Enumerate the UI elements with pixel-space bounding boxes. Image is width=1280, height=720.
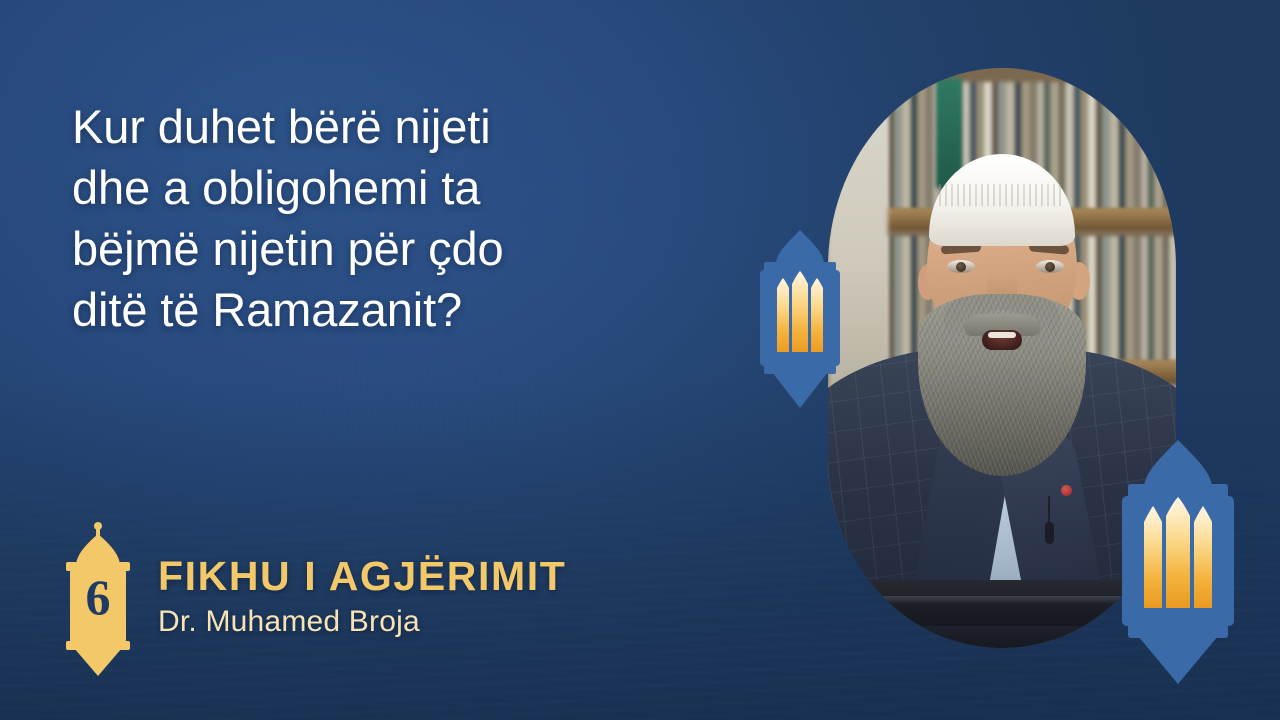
photo-eye-right <box>1036 260 1064 273</box>
video-thumbnail-slide: Kur duhet bërë nijeti dhe a obligohemi t… <box>0 0 1280 720</box>
episode-number-badge: 6 <box>60 520 136 678</box>
headline-line: bëjmë nijetin për çdo <box>72 218 712 279</box>
photo-mouth <box>982 330 1022 350</box>
episode-number: 6 <box>60 572 136 622</box>
ramadan-lantern-icon <box>752 228 848 410</box>
series-footer: 6 FIKHU I AGJËRIMIT Dr. Muhamed Broja <box>60 520 566 678</box>
series-title: FIKHU I AGJËRIMIT <box>158 555 566 598</box>
presenter-name: Dr. Muhamed Broja <box>158 605 566 639</box>
series-text-block: FIKHU I AGJËRIMIT Dr. Muhamed Broja <box>158 555 566 642</box>
page-title: Kur duhet bërë nijeti dhe a obligohemi t… <box>72 96 712 340</box>
photo-eye-left <box>947 260 975 273</box>
headline-line: Kur duhet bërë nijeti <box>72 96 712 157</box>
photo-laptop <box>852 580 1152 648</box>
headline-line: dhe a obligohemi ta <box>72 157 712 218</box>
headline-line: ditë të Ramazanit? <box>72 279 712 340</box>
photo-lapel-pin <box>1061 485 1072 496</box>
ramadan-lantern-icon <box>1112 438 1244 686</box>
photo-lapel-microphone <box>1045 522 1054 544</box>
